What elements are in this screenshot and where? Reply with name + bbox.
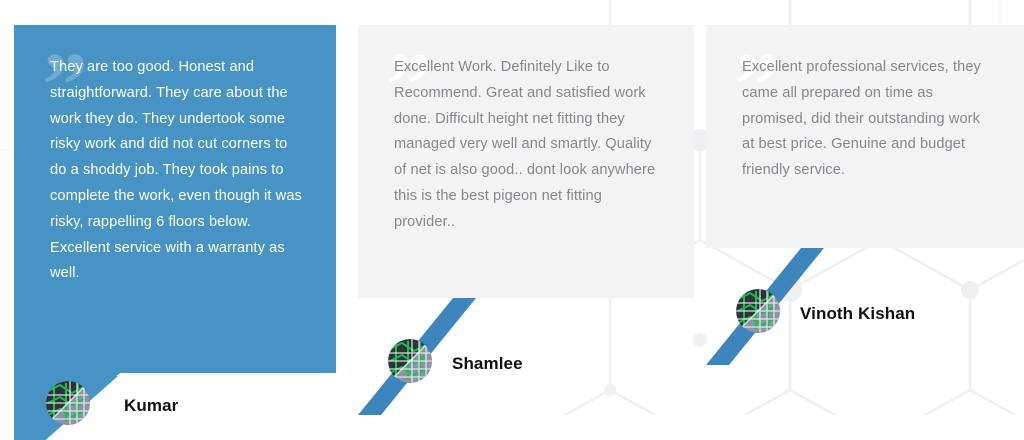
author-name: Shamlee — [452, 354, 523, 374]
testimonial-quote: Excellent professional services, they ca… — [742, 55, 990, 184]
testimonial-card-kumar[interactable]: ” They are too good. Honest and straight… — [14, 25, 336, 348]
author-name: Kumar — [124, 396, 178, 416]
quote-box: ” Excellent Work. Definitely Like to Rec… — [358, 25, 694, 298]
testimonial-author: Shamlee — [358, 298, 694, 415]
testimonial-quote: They are too good. Honest and straightfo… — [50, 55, 302, 287]
avatar — [736, 289, 780, 333]
testimonial-list: ” They are too good. Honest and straight… — [0, 0, 1024, 415]
testimonial-author: Kumar — [0, 348, 350, 440]
author-name: Vinoth Kishan — [800, 304, 915, 324]
testimonial-card-shamlee[interactable]: ” Excellent Work. Definitely Like to Rec… — [358, 25, 694, 298]
avatar — [388, 339, 432, 383]
testimonial-card-vinoth-kishan[interactable]: ” Excellent professional services, they … — [706, 25, 1024, 248]
testimonial-quote: Excellent Work. Definitely Like to Recom… — [394, 55, 660, 236]
quote-box: ” They are too good. Honest and straight… — [14, 25, 336, 348]
avatar — [46, 381, 90, 425]
quote-box: ” Excellent professional services, they … — [706, 25, 1024, 248]
testimonial-author: Vinoth Kishan — [706, 248, 1024, 365]
